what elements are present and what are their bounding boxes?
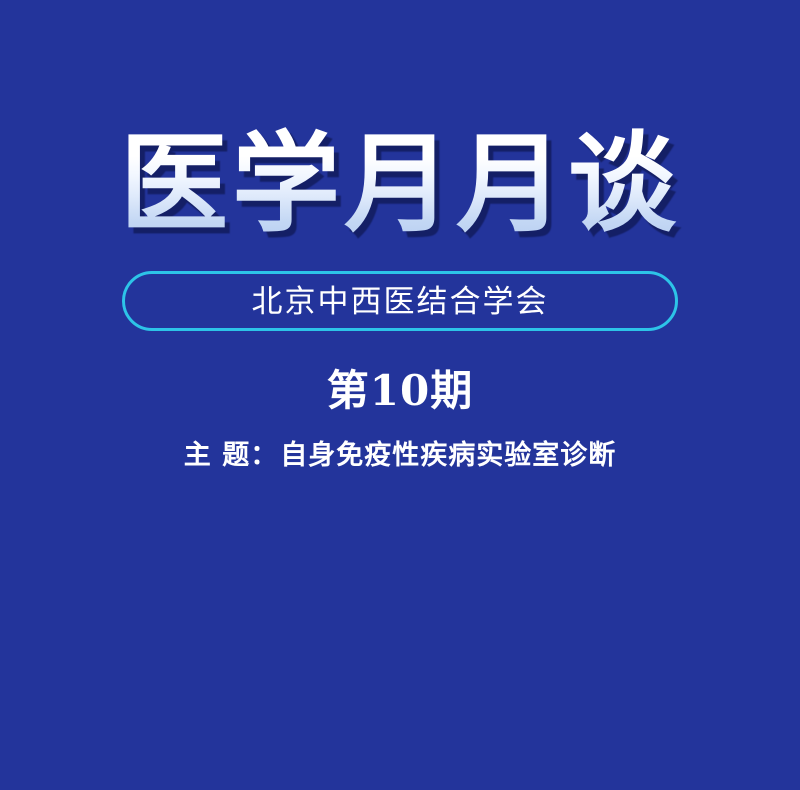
topic-line: 主 题：自身免疫性疾病实验室诊断	[0, 440, 800, 471]
poster-title: 医学月月谈 医学月月谈	[0, 126, 800, 243]
poster-title-text: 医学月月谈	[0, 126, 800, 243]
organization-label: 北京中西医结合学会	[252, 286, 549, 317]
organization-pill: 北京中西医结合学会	[122, 271, 678, 331]
topic-value: 自身免疫性疾病实验室诊断	[280, 440, 616, 471]
poster-canvas: 医学月月谈 医学月月谈 北京中西医结合学会 第10期 主 题：自身免疫性疾病实验…	[0, 0, 800, 790]
issue-number: 第10期	[0, 368, 800, 414]
topic-label: 主 题：	[184, 440, 278, 471]
